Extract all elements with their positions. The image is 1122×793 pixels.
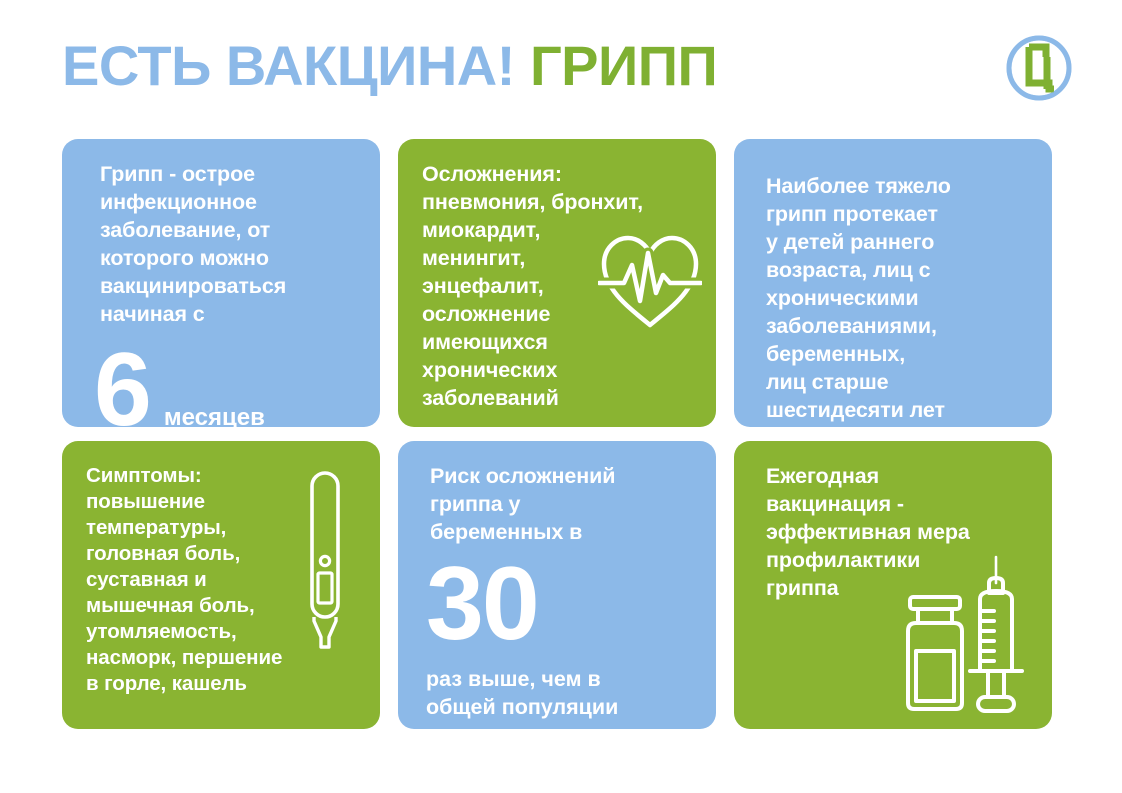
card-risk-groups: Наиболее тяжело грипп протекает у детей … <box>734 139 1052 427</box>
title-part-vaccine-available: ЕСТЬ ВАКЦИНА! <box>62 34 515 97</box>
card-pregnancy-risk-stat: 30 <box>422 557 696 653</box>
card-symptoms: Симптомы: повышение температуры, головна… <box>62 441 380 729</box>
page-title: ЕСТЬ ВАКЦИНА! ГРИПП <box>62 38 717 94</box>
card-pregnancy-risk-text: Риск осложнений гриппа у беременных в <box>422 463 696 547</box>
poster-header: ЕСТЬ ВАКЦИНА! ГРИПП <box>0 0 1122 128</box>
card-definition-unit: месяцев <box>164 406 265 427</box>
card-pregnancy-risk-big-number: 30 <box>426 557 538 653</box>
clinic-logo <box>1004 33 1074 103</box>
title-part-flu: ГРИПП <box>530 34 717 97</box>
card-risk-groups-text: Наиболее тяжело грипп протекает у детей … <box>758 161 1032 424</box>
card-grid: Грипп - острое инфекционное заболевание,… <box>62 139 1070 729</box>
card-definition-big-number: 6 <box>94 343 150 427</box>
card-complications-text: Осложнения: пневмония, бронхит, миокарди… <box>422 161 696 412</box>
card-prevention-text: Ежегодная вакцинация - эффективная мера … <box>758 463 1032 603</box>
card-pregnancy-risk-footer: раз выше, чем в общей популяции <box>422 666 696 721</box>
card-pregnancy-risk: Риск осложнений гриппа у беременных в 30… <box>398 441 716 729</box>
infographic-poster: ЕСТЬ ВАКЦИНА! ГРИПП Грипп - острое инфек… <box>0 0 1122 793</box>
card-symptoms-text: Симптомы: повышение температуры, головна… <box>86 463 360 697</box>
card-definition: Грипп - острое инфекционное заболевание,… <box>62 139 380 427</box>
card-prevention: Ежегодная вакцинация - эффективная мера … <box>734 441 1052 729</box>
card-definition-text: Грипп - острое инфекционное заболевание,… <box>86 161 360 329</box>
card-definition-stat: 6 месяцев <box>86 343 360 427</box>
card-complications: Осложнения: пневмония, бронхит, миокарди… <box>398 139 716 427</box>
